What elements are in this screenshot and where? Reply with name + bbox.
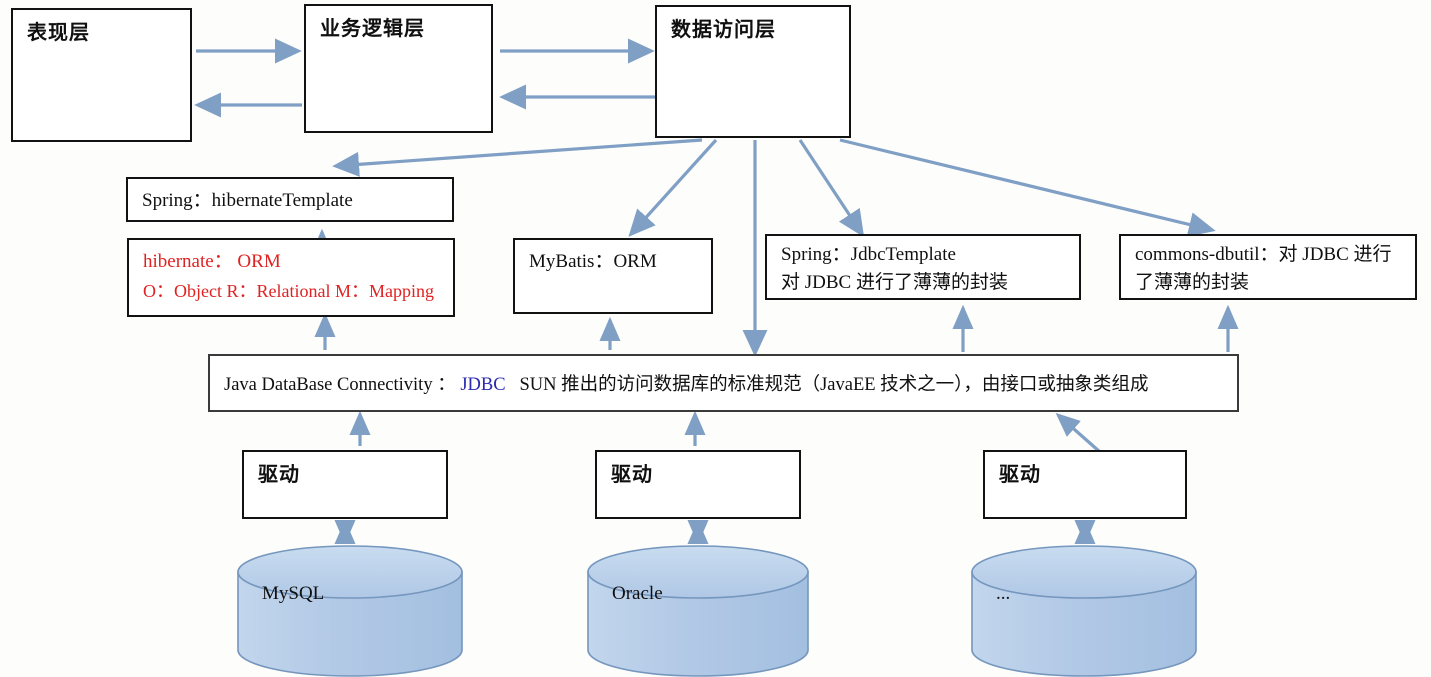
presentation-layer-label: 表现层 xyxy=(13,10,190,47)
cylinder-other[interactable]: ... xyxy=(972,546,1196,650)
spring-jdbc-template-label-line2: 对 JDBC 进行了薄薄的封装 xyxy=(767,269,1079,297)
box-spring-hibernate-template[interactable]: Spring：hibernateTemplate xyxy=(126,177,454,222)
box-presentation-layer[interactable]: 表现层 xyxy=(11,8,192,142)
jdbc-suffix: SUN 推出的访问数据库的标准规范（JavaEE 技术之一），由接口或抽象类组成 xyxy=(519,375,1148,395)
spring-hibernate-template-label: Spring：hibernateTemplate xyxy=(128,179,452,215)
cylinder-other-label: ... xyxy=(996,583,1010,605)
box-dao-layer[interactable]: 数据访问层 xyxy=(655,5,851,138)
hibernate-orm-label-line2: O：Object R：Relational M：Mapping xyxy=(129,276,453,304)
jdbc-spec-text: Java DataBase Connectivity ： JDBC SUN 推出… xyxy=(210,370,1158,396)
box-driver-oracle[interactable]: 驱动 xyxy=(595,450,801,519)
jdbc-keyword: JDBC xyxy=(460,375,505,395)
spring-jdbc-template-label-line1: Spring：JdbcTemplate xyxy=(767,236,1079,269)
commons-dbutil-label-line2: 了薄薄的封装 xyxy=(1121,269,1415,297)
box-business-layer[interactable]: 业务逻辑层 xyxy=(304,4,493,133)
cylinder-oracle[interactable]: Oracle xyxy=(588,546,808,650)
box-spring-jdbc-template[interactable]: Spring：JdbcTemplate 对 JDBC 进行了薄薄的封装 xyxy=(765,234,1081,300)
cylinder-mysql-label: MySQL xyxy=(262,583,324,605)
box-mybatis-orm[interactable]: MyBatis：ORM xyxy=(513,238,713,314)
dao-layer-label: 数据访问层 xyxy=(657,7,849,44)
box-hibernate-orm[interactable]: hibernate： ORM O：Object R：Relational M：M… xyxy=(127,238,455,317)
cylinder-oracle-label: Oracle xyxy=(612,583,663,605)
business-layer-label: 业务逻辑层 xyxy=(306,6,491,43)
box-jdbc-spec[interactable]: Java DataBase Connectivity ： JDBC SUN 推出… xyxy=(208,354,1239,412)
hibernate-orm-label-line1: hibernate： ORM xyxy=(129,240,453,276)
box-driver-other[interactable]: 驱动 xyxy=(983,450,1187,519)
box-driver-mysql[interactable]: 驱动 xyxy=(242,450,448,519)
diagram-canvas: 表现层 业务逻辑层 数据访问层 Spring：hibernateTemplate… xyxy=(0,0,1431,677)
cylinder-mysql[interactable]: MySQL xyxy=(238,546,462,650)
commons-dbutil-label-line1: commons-dbutil：对 JDBC 进行 xyxy=(1121,236,1415,269)
driver-oracle-label: 驱动 xyxy=(597,452,799,489)
driver-mysql-label: 驱动 xyxy=(244,452,446,489)
driver-other-label: 驱动 xyxy=(985,452,1185,489)
mybatis-orm-label: MyBatis：ORM xyxy=(515,240,711,276)
jdbc-prefix: Java DataBase Connectivity ： xyxy=(224,375,456,395)
box-commons-dbutil[interactable]: commons-dbutil：对 JDBC 进行 了薄薄的封装 xyxy=(1119,234,1417,300)
